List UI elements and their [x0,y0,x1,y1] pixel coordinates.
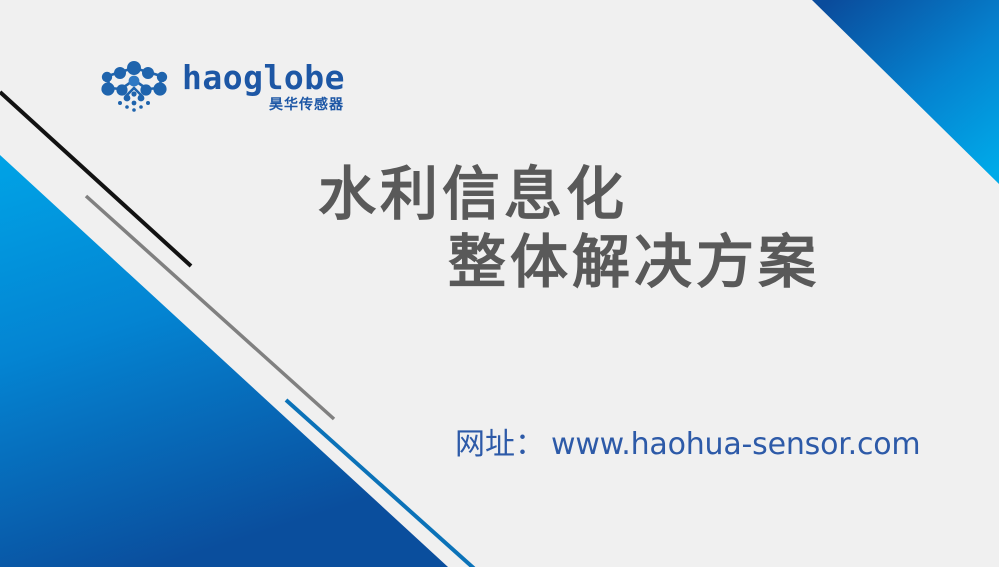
right-blue-gradient-triangle [812,0,999,184]
website-url: 网址： www.haohua-sensor.com [455,419,920,463]
brand-logo: haoglobe 昊华传感器 [96,58,345,114]
haoglobe-network-dots-icon [96,58,174,114]
url-label: 网址： [455,419,545,463]
title-line-2: 整体解决方案 [448,228,999,296]
title-line-1: 水利信息化 [318,160,999,228]
url-value[interactable]: www.haohua-sensor.com [551,427,920,462]
title-slide: haoglobe 昊华传感器 水利信息化 整体解决方案 网址： www.haoh… [0,0,999,567]
page-title: 水利信息化 整体解决方案 [0,160,999,297]
logo-subtitle: 昊华传感器 [269,98,344,112]
logo-wordmark: haoglobe [182,61,345,94]
blue-diagonal-line [286,400,478,567]
logo-text-block: haoglobe 昊华传感器 [182,61,345,112]
